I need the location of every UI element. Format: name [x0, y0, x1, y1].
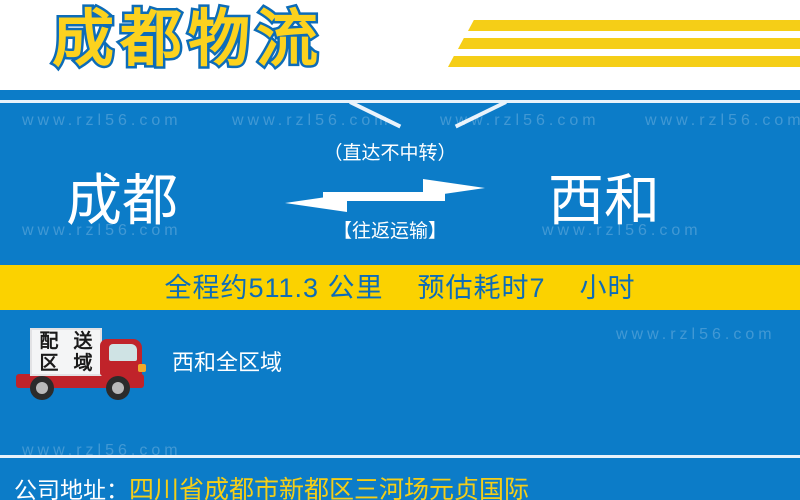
truck-headlight	[138, 364, 146, 372]
distance-duration-text: 全程约511.3 公里 预估耗时7 小时	[164, 272, 635, 304]
truck-box-char-1: 配	[39, 331, 58, 352]
page-title: 成都物流	[52, 2, 324, 78]
chevron-stroke-left	[349, 100, 401, 128]
chevron-down-icon	[352, 92, 448, 126]
chevron-stroke-right	[455, 100, 507, 128]
header-zone: 成都物流	[0, 0, 800, 92]
destination-city: 西和	[548, 168, 660, 234]
origin-city: 成都	[66, 168, 178, 234]
route-note-direct: （直达不中转）	[270, 142, 510, 166]
footer-divider-line	[0, 455, 800, 458]
coverage-label: 西和全区域	[172, 350, 282, 376]
truck-wheel-rear	[30, 376, 54, 400]
truck-box-char-3: 区	[39, 353, 58, 374]
delivery-row: 配 送 区 域 西和全区域	[0, 322, 800, 404]
truck-box-char-2: 送	[73, 331, 92, 352]
bidirectional-arrow-icon	[285, 178, 485, 214]
main-panel: 成都 西和 （直达不中转） 【往返运输】 全程约511.3 公里 预估耗时7 小…	[0, 90, 800, 500]
delivery-truck-icon: 配 送 区 域	[10, 326, 150, 398]
decorative-stripes	[400, 0, 800, 92]
stripe-2	[458, 38, 800, 49]
footer-address: 公司地址： 四川省成都市新都区三河场元贞国际	[0, 470, 800, 500]
stripe-3	[448, 56, 800, 67]
address-value: 四川省成都市新都区三河场元贞国际	[129, 476, 529, 500]
route-note-roundtrip: 【往返运输】	[270, 220, 510, 244]
watermark-text: www.rzl56.com	[645, 112, 800, 130]
watermark-text: www.rzl56.com	[22, 112, 182, 130]
address-label: 公司地址：	[14, 476, 129, 500]
truck-box-char-4: 域	[73, 353, 92, 374]
stripe-1	[468, 20, 800, 31]
truck-cargo-box: 配 送 区 域	[30, 328, 102, 376]
logistics-banner: 成都物流 成都 西和 （直达不中转） 【往返运输】 全程约511.3 公里 预估…	[0, 0, 800, 500]
arrow-head-right	[423, 179, 485, 197]
truck-wheel-front	[106, 376, 130, 400]
truck-window	[109, 344, 137, 361]
distance-duration-bar: 全程约511.3 公里 预估耗时7 小时	[0, 265, 800, 310]
